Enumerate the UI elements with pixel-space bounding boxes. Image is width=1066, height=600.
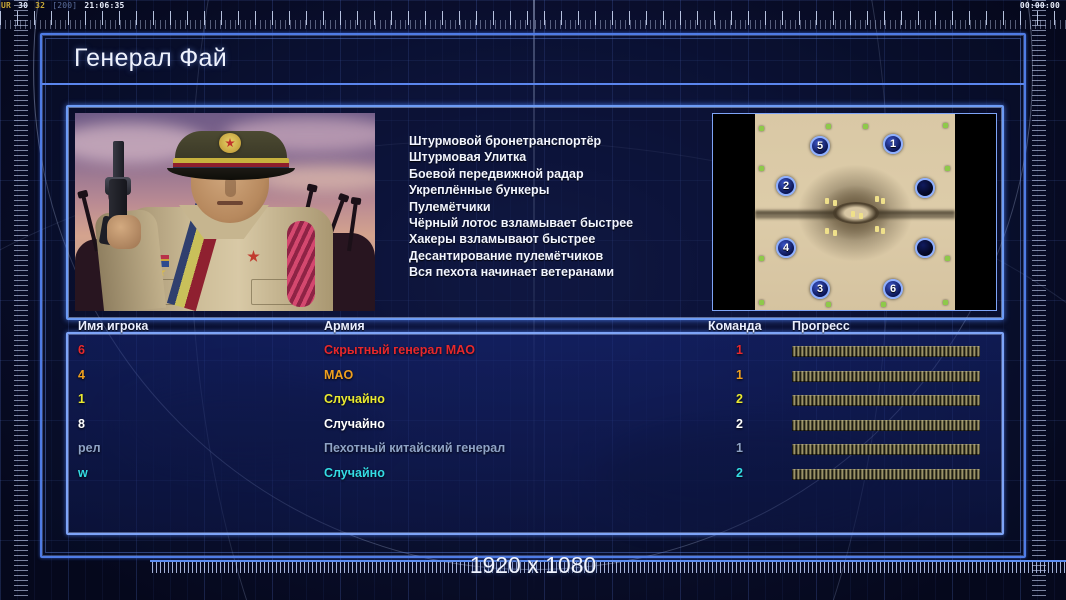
start-position-marker[interactable]: 6 <box>883 279 903 299</box>
player-name-cell: w <box>78 466 88 480</box>
supply-dock-icon <box>826 124 831 129</box>
oil-derrick-icon <box>825 198 829 204</box>
army-cell: Случайно <box>324 392 385 406</box>
player-name-cell: 4 <box>78 368 85 382</box>
column-header-player: Имя игрока <box>78 319 148 333</box>
supply-dock-icon <box>826 302 831 307</box>
player-name-cell: 6 <box>78 343 85 357</box>
progress-bar <box>792 371 980 382</box>
ability-item: Хакеры взламывают быстрее <box>409 231 709 247</box>
player-roster-panel: Имя игрока Армия Команда Прогресс 6Скрыт… <box>66 332 1004 535</box>
status-time: 21:06:35 <box>83 0 125 11</box>
portrait-mouth <box>217 201 243 205</box>
supply-dock-icon <box>759 256 764 261</box>
supply-dock-icon <box>943 123 948 128</box>
page-title: Генерал Фай <box>74 44 227 73</box>
oil-derrick-icon <box>881 198 885 204</box>
team-cell: 2 <box>736 392 743 406</box>
top-ruler-strip-fine <box>0 20 1066 29</box>
column-header-team: Команда <box>708 319 762 333</box>
abilities-list: Штурмовой бронетранспортёр Штурмовая Ули… <box>409 133 709 281</box>
progress-bar <box>792 420 980 431</box>
army-cell: Случайно <box>324 466 385 480</box>
team-cell: 1 <box>736 343 743 357</box>
oil-derrick-icon <box>875 226 879 232</box>
supply-dock-icon <box>759 166 764 171</box>
roster-header-row: Имя игрока Армия Команда Прогресс <box>68 319 1002 334</box>
ability-item: Штурмовой бронетранспортёр <box>409 133 709 149</box>
table-row[interactable]: 6Скрытный генерал MAO1 <box>68 340 1002 364</box>
progress-bar <box>792 469 980 480</box>
status-prefix: UR <box>0 0 12 11</box>
start-position-marker[interactable]: 4 <box>776 238 796 258</box>
team-cell: 2 <box>736 466 743 480</box>
player-name-cell: 1 <box>78 392 85 406</box>
status-bar: UR 30 32 [200] 21:06:35 00:00:00 <box>0 0 1066 11</box>
start-position-marker[interactable]: 1 <box>883 134 903 154</box>
ability-item: Чёрный лотос взламывает быстрее <box>409 215 709 231</box>
status-value-2: 32 <box>34 0 46 11</box>
oil-derrick-icon <box>881 228 885 234</box>
army-cell: Случайно <box>324 417 385 431</box>
supply-dock-icon <box>943 300 948 305</box>
start-position-marker[interactable] <box>915 238 935 258</box>
army-cell: Пехотный китайский генерал <box>324 441 505 455</box>
player-name-cell: 8 <box>78 417 85 431</box>
supply-dock-icon <box>881 302 886 307</box>
start-position-marker[interactable]: 5 <box>810 136 830 156</box>
column-header-progress: Прогресс <box>792 319 850 333</box>
supply-dock-icon <box>863 124 868 129</box>
table-row[interactable]: wСлучайно2 <box>68 463 1002 487</box>
ability-item: Боевой передвижной радар <box>409 166 709 182</box>
minimap-preview[interactable]: 512436 <box>712 113 997 311</box>
status-value-1: 30 <box>17 0 29 11</box>
resolution-caption: 1920 x 1080 <box>0 552 1066 579</box>
supply-dock-icon <box>945 256 950 261</box>
start-position-marker[interactable]: 3 <box>810 279 830 299</box>
portrait-nose <box>225 177 236 197</box>
supply-dock-icon <box>759 126 764 131</box>
portrait-hand <box>107 215 141 249</box>
clock-right: 00:00:00 <box>1020 0 1060 11</box>
portrait-aiguillette <box>287 221 315 307</box>
minimap-center-basin <box>833 202 879 224</box>
portrait-cap-badge <box>219 133 241 153</box>
main-window-frame: Генерал Фай <box>40 33 1026 558</box>
supply-dock-icon <box>945 166 950 171</box>
ability-item: Укреплённые бункеры <box>409 182 709 198</box>
start-position-marker[interactable] <box>915 178 935 198</box>
army-cell: MAO <box>324 368 353 382</box>
table-row[interactable]: 4MAO1 <box>68 365 1002 389</box>
ability-item: Пулемётчики <box>409 199 709 215</box>
general-info-panel: Штурмовой бронетранспортёр Штурмовая Ули… <box>66 105 1004 320</box>
ability-item: Штурмовая Улитка <box>409 149 709 165</box>
oil-derrick-icon <box>859 213 863 219</box>
table-row[interactable]: релПехотный китайский генерал1 <box>68 438 1002 462</box>
ability-item: Десантирование пулемётчиков <box>409 248 709 264</box>
progress-bar <box>792 444 980 455</box>
progress-bar <box>792 346 980 357</box>
oil-derrick-icon <box>825 228 829 234</box>
oil-derrick-icon <box>833 230 837 236</box>
oil-derrick-icon <box>851 211 855 217</box>
minimap-terrain: 512436 <box>755 114 955 311</box>
title-bar: Генерал Фай <box>42 35 1024 85</box>
left-ruler-strip <box>14 0 28 600</box>
team-cell: 1 <box>736 368 743 382</box>
status-bracket: [200] <box>51 0 78 11</box>
general-portrait <box>75 113 375 311</box>
oil-derrick-icon <box>875 196 879 202</box>
column-header-army: Армия <box>324 319 365 333</box>
oil-derrick-icon <box>833 200 837 206</box>
table-row[interactable]: 8Случайно2 <box>68 414 1002 438</box>
army-cell: Скрытный генерал MAO <box>324 343 475 357</box>
start-position-marker[interactable]: 2 <box>776 176 796 196</box>
ability-item: Вся пехота начинает ветеранами <box>409 264 709 280</box>
player-name-cell: рел <box>78 441 101 455</box>
team-cell: 1 <box>736 441 743 455</box>
team-cell: 2 <box>736 417 743 431</box>
progress-bar <box>792 395 980 406</box>
table-row[interactable]: 1Случайно2 <box>68 389 1002 413</box>
supply-dock-icon <box>759 300 764 305</box>
right-ruler-strip <box>1032 0 1046 600</box>
